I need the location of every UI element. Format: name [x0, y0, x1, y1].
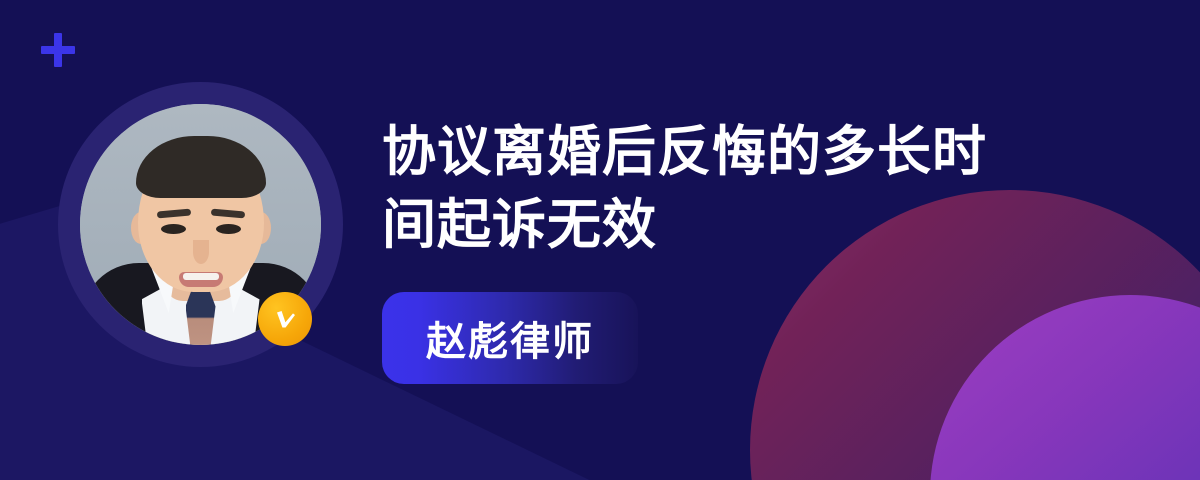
verified-v-icon: [258, 292, 312, 346]
lawyer-article-banner: 协议离婚后反悔的多长时 间起诉无效 赵彪律师: [0, 0, 1200, 480]
portrait-eye-right: [216, 224, 241, 234]
banner-content: 协议离婚后反悔的多长时 间起诉无效 赵彪律师: [382, 116, 1082, 384]
plus-icon: [41, 33, 75, 67]
portrait-eye-left: [161, 224, 186, 234]
portrait-necktie: [186, 287, 216, 345]
portrait-teeth: [183, 273, 219, 280]
plus-icon-vertical-bar: [54, 33, 62, 67]
page-title: 协议离婚后反悔的多长时 间起诉无效: [382, 116, 1082, 262]
lawyer-name-button[interactable]: 赵彪律师: [382, 292, 638, 384]
portrait-nose: [193, 240, 209, 264]
